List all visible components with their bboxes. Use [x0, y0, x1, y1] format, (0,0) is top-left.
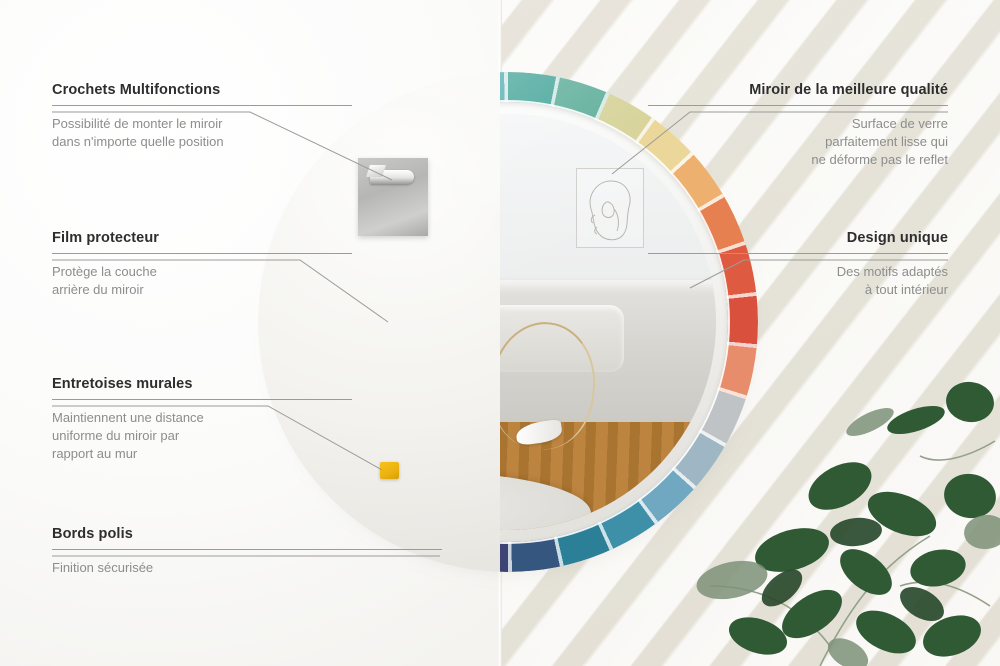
multifunction-hook-plate	[358, 158, 428, 236]
callout-polished-edges: Bords polis Finition sécurisée	[52, 526, 442, 577]
callout-title: Crochets Multifonctions	[52, 82, 352, 98]
callout-protective-film: Film protecteur Protège la couche arrièr…	[52, 230, 352, 299]
callout-title: Film protecteur	[52, 230, 352, 246]
callout-quality-mirror: Miroir de la meilleure qualité Surface d…	[648, 82, 948, 169]
callout-rule	[52, 399, 352, 400]
callout-rule	[52, 105, 352, 106]
hook-icon	[370, 170, 414, 184]
callout-title: Bords polis	[52, 526, 442, 542]
callout-rule	[52, 253, 352, 254]
callout-body: Protège la couche arrière du miroir	[52, 263, 352, 299]
infographic-canvas: Crochets Multifonctions Possibilité de m…	[0, 0, 1000, 666]
callout-body: Finition sécurisée	[52, 559, 442, 577]
line-art-face-icon	[577, 169, 643, 247]
callout-body: Possibilité de monter le miroir dans n'i…	[52, 115, 352, 151]
callout-title: Miroir de la meilleure qualité	[648, 82, 948, 98]
leaves-icon	[670, 336, 1000, 666]
callout-rule	[648, 105, 948, 106]
callout-wall-spacers: Entretoises murales Maintiennent une dis…	[52, 376, 352, 463]
callout-hooks: Crochets Multifonctions Possibilité de m…	[52, 82, 352, 151]
callout-rule	[648, 253, 948, 254]
callout-body: Des motifs adaptés à tout intérieur	[648, 263, 948, 299]
wall-spacer-part	[380, 462, 399, 479]
callout-unique-design: Design unique Des motifs adaptés à tout …	[648, 230, 948, 299]
foliage-decoration	[670, 336, 1000, 666]
callout-title: Entretoises murales	[52, 376, 352, 392]
callout-rule	[52, 549, 442, 550]
etched-motif-plate	[576, 168, 644, 248]
callout-body: Maintiennent une distance uniforme du mi…	[52, 409, 352, 463]
callout-title: Design unique	[648, 230, 948, 246]
callout-body: Surface de verre parfaitement lisse qui …	[648, 115, 948, 169]
